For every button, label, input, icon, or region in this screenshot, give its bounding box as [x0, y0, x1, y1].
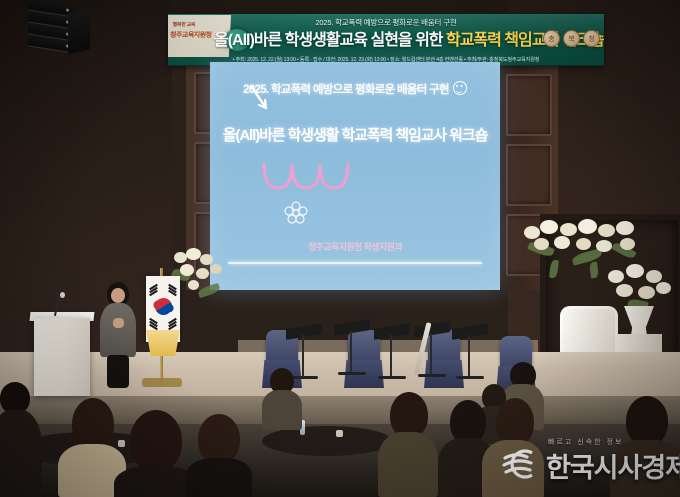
screen-headline: 2025. 학교폭력 예방으로 평화로운 배움터 구현 — [243, 84, 449, 96]
banner-badge-1: 충 — [543, 30, 560, 47]
speaker-cabinet-icon — [68, 7, 90, 54]
banner-logo-line2: 청주교육지원청 — [170, 30, 212, 40]
flag-tassel — [146, 330, 180, 356]
music-stand-3 — [374, 326, 410, 382]
screen-underline — [228, 262, 482, 264]
microphone-head-icon — [60, 292, 65, 298]
projector-screen: 2025. 학교폭력 예방으로 평화로운 배움터 구현 올(All)바른 학생생… — [210, 62, 500, 290]
pink-squiggle-icon — [258, 162, 368, 196]
audience-person-8 — [378, 392, 438, 497]
audience-table-2 — [262, 426, 392, 456]
banner-badge-2: 북 — [563, 30, 580, 47]
screen-title: 올(All)바른 학생생활 학교폭력 책임교사 워크숍 — [210, 124, 500, 145]
screen-department: 청주교육지원청 학생지원과 — [210, 240, 500, 253]
paper-cup-1 — [336, 430, 343, 437]
speaker-coat — [100, 303, 136, 357]
banner-main-part1: 올(All)바른 학생생활교육 실현을 위한 — [214, 32, 446, 49]
speaker-face — [111, 288, 125, 303]
arrow-down-right-icon — [248, 84, 272, 114]
audience-person-7 — [186, 414, 252, 497]
speaker-legs — [107, 355, 129, 388]
music-stand-5 — [452, 326, 488, 382]
banner-badges: 충 북 청 — [543, 30, 600, 47]
audience-person-4 — [0, 382, 40, 497]
taeguk-symbol-icon — [152, 295, 175, 318]
podium — [34, 318, 90, 396]
watermark-brand: 한국시사경제 — [546, 446, 680, 485]
speaker-person — [96, 282, 140, 390]
white-flower-icon — [282, 200, 310, 228]
audience-person-1 — [262, 368, 302, 428]
banner-badge-3: 청 — [583, 30, 600, 47]
banner-main-line: 올(All)바른 학생생활교육 실현을 위한 학교폭력 책임교사 워크숍 — [214, 26, 546, 50]
watermark: 빠르고 신속한 정보 한국시사경제 — [502, 437, 670, 489]
flag-base — [142, 378, 182, 387]
speaker-hands — [113, 318, 124, 328]
music-stand-2 — [334, 322, 370, 378]
photo-canvas: 행복한 교육 청주교육지원청 2025. 학교폭력 예방으로 평화로운 배움터 … — [0, 0, 680, 497]
wave-logo-icon — [502, 449, 544, 479]
smiley-face-icon — [453, 81, 467, 95]
event-banner: 행복한 교육 청주교육지원청 2025. 학교폭력 예방으로 평화로운 배움터 … — [168, 14, 604, 66]
